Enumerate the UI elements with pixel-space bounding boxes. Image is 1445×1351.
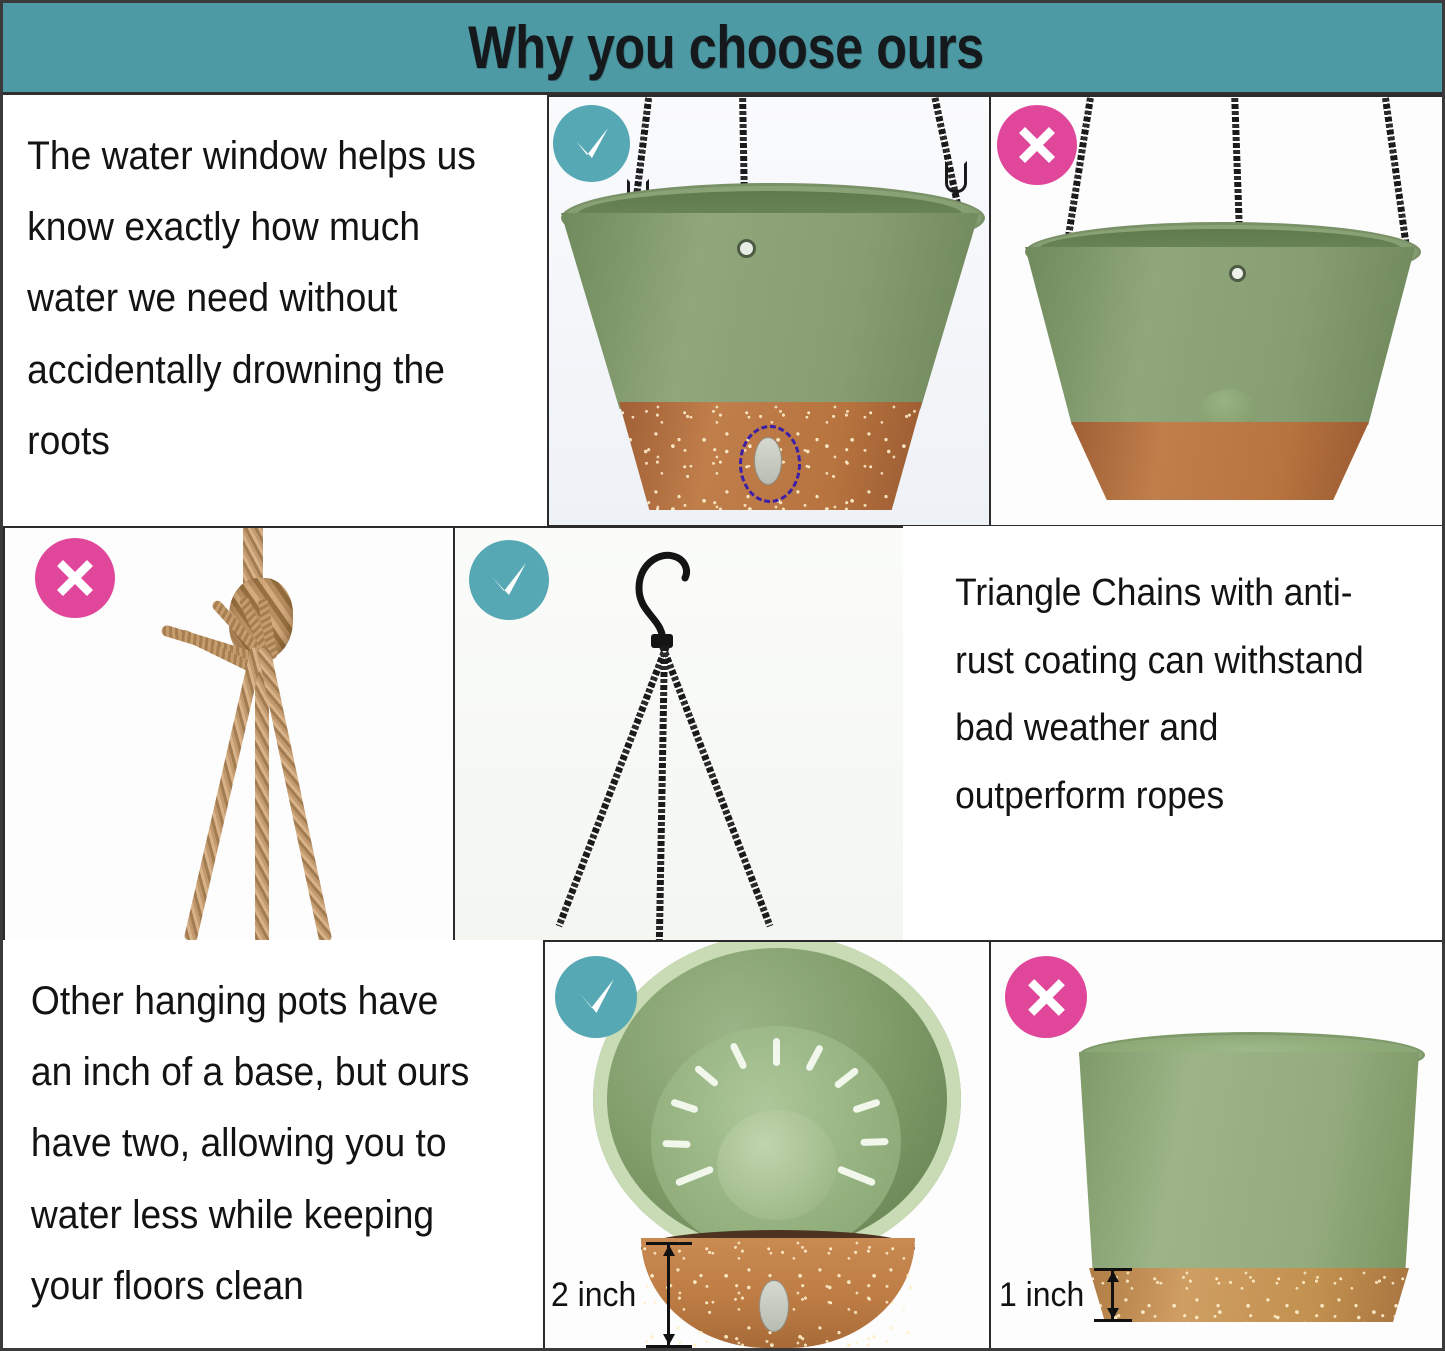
cross-mark-icon: [52, 555, 98, 601]
feature-text-water-window-label: The water window helps us know exactly h…: [3, 95, 511, 477]
dimension-2-inch-label: 2 inch: [551, 1276, 636, 1315]
pot-body: [1079, 1052, 1419, 1270]
dimension-cap-bottom: [646, 1345, 692, 1348]
feature-text-deep-base: Other hanging pots have an inch of a bas…: [3, 940, 545, 1351]
cross-badge: [35, 538, 115, 618]
photo-ours-water-window: [547, 95, 991, 527]
water-window: [759, 1280, 789, 1332]
feature-text-water-window: The water window helps us know exactly h…: [3, 95, 549, 527]
pot-body: [561, 213, 979, 409]
check-badge: [555, 956, 637, 1038]
dimension-2-inch: 2 inch: [551, 1242, 692, 1348]
dimension-arrow: [646, 1242, 692, 1348]
chain-eyelet: [1229, 265, 1246, 282]
header-bar: Why you choose ours: [3, 3, 1445, 95]
dimension-arrowhead-up: [1107, 1271, 1119, 1282]
cross-mark-icon: [1014, 122, 1060, 168]
water-window-highlight-outline: [739, 425, 801, 503]
pot-terracotta-base: [1071, 422, 1369, 500]
check-mark-icon: [570, 122, 614, 166]
check-mark-icon: [573, 974, 620, 1021]
dimension-cap-bottom: [1094, 1319, 1132, 1322]
dimension-arrowhead-down: [1107, 1308, 1119, 1319]
photo-other-no-water-window: [989, 95, 1445, 527]
dimension-arrowhead-up: [663, 1245, 675, 1256]
speckle-texture: [1089, 1268, 1409, 1322]
feature-text-deep-base-label: Other hanging pots have an inch of a bas…: [3, 940, 507, 1322]
check-badge: [469, 540, 549, 620]
photo-other-shallow-base: 1 inch: [989, 940, 1445, 1351]
photo-rope-hanger: [3, 526, 455, 942]
cross-badge: [997, 105, 1077, 185]
chain-hook-icon: [945, 161, 967, 193]
cross-mark-icon: [1023, 974, 1070, 1021]
product-comparison-infographic: Why you choose ours The water window hel…: [0, 0, 1445, 1351]
pot-cork-base: [1089, 1268, 1409, 1322]
drainage-slot: [773, 1038, 780, 1066]
check-badge: [553, 105, 630, 182]
drainage-slot: [662, 1140, 690, 1148]
dimension-arrow: [1094, 1268, 1132, 1322]
dimension-1-inch-label: 1 inch: [999, 1276, 1084, 1315]
photo-ours-deep-reservoir: 2 inch: [543, 940, 991, 1351]
cross-badge: [1005, 956, 1087, 1038]
drainage-slot: [860, 1138, 888, 1146]
chain-eyelet: [737, 239, 756, 258]
center-dome: [717, 1110, 837, 1220]
s-hook-icon: [627, 542, 697, 644]
feature-text-triangle-chains-label: Triangle Chains with anti-rust coating c…: [903, 526, 1407, 831]
check-mark-icon: [486, 557, 532, 603]
photo-triangle-chain-hanger: [453, 526, 905, 942]
dimension-1-inch: 1 inch: [999, 1268, 1132, 1322]
feature-text-triangle-chains: Triangle Chains with anti-rust coating c…: [903, 526, 1445, 942]
page-title: Why you choose ours: [468, 13, 984, 82]
dimension-shaft: [667, 1242, 670, 1348]
dimension-arrowhead-down: [663, 1334, 675, 1345]
